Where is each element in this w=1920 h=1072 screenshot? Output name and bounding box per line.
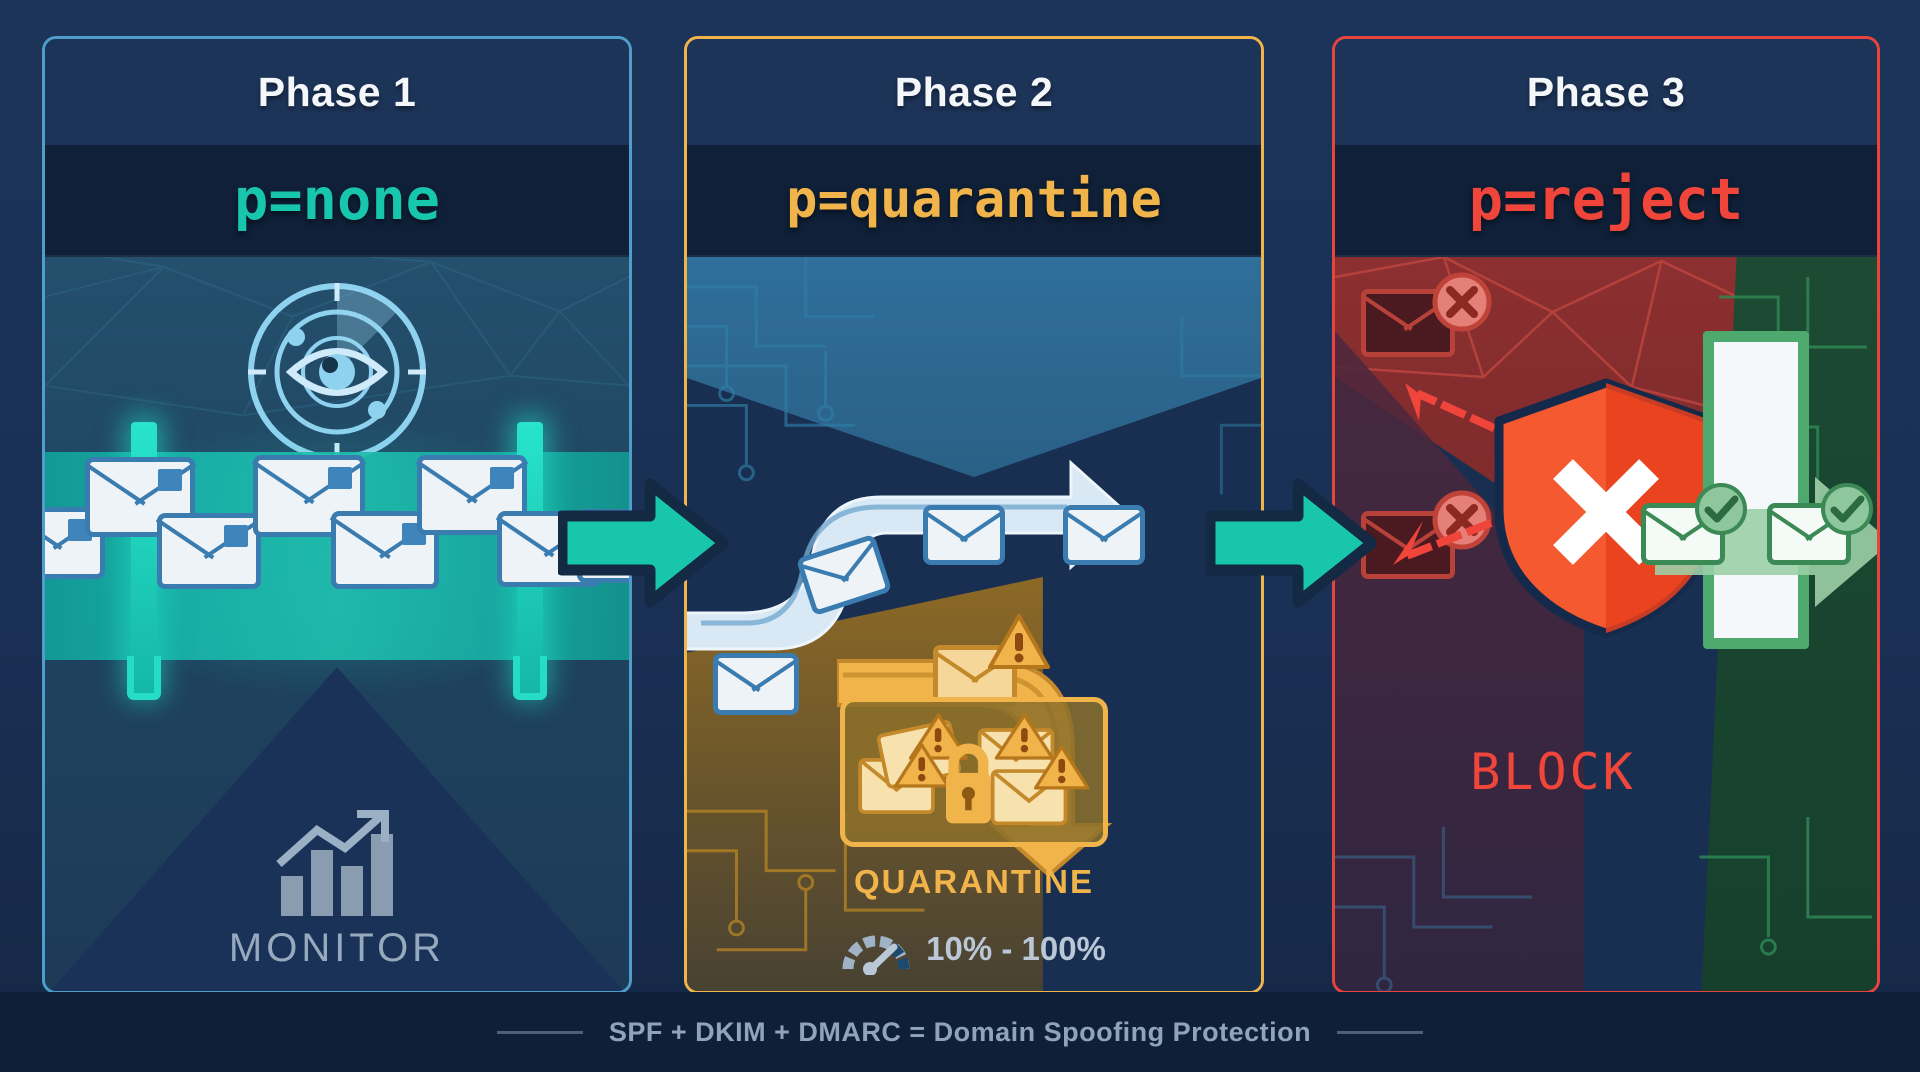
- phase-3-policy-bar: p=reject: [1335, 145, 1877, 257]
- bar-chart-growth-icon: [273, 810, 401, 920]
- circuit-pattern: [1335, 797, 1660, 994]
- phase-3-panel: Phase 3 p=reject: [1332, 36, 1880, 994]
- phase-2-title: Phase 2: [895, 69, 1054, 116]
- footer-rule-right: [1337, 1031, 1423, 1034]
- phase-3-header: Phase 3: [1335, 39, 1877, 145]
- phase-2-policy-value: p=quarantine: [786, 170, 1162, 230]
- phase-2-panel: Phase 2 p=quarantine: [684, 36, 1264, 994]
- phase-1-header: Phase 1: [45, 39, 629, 145]
- gauge-icon: [842, 923, 910, 975]
- monitor-indicator: MONITOR: [45, 810, 629, 971]
- lock-icon: [946, 749, 991, 824]
- phase-1-title: Phase 1: [258, 69, 417, 116]
- quarantine-contents-icon: [845, 702, 1103, 842]
- phase-1-policy-value: p=none: [234, 167, 440, 233]
- dmarc-rollout-diagram: Phase 1 p=none: [0, 0, 1920, 1072]
- phase2-to-phase3-arrow: [1206, 478, 1376, 608]
- footer-bar: SPF + DKIM + DMARC = Domain Spoofing Pro…: [0, 992, 1920, 1072]
- phase-1-body: MONITOR: [45, 257, 629, 994]
- envelope-icon: [713, 653, 799, 715]
- envelope-icon: [923, 505, 1005, 565]
- check-circle-icon: [1693, 481, 1749, 537]
- block-label: BLOCK: [1379, 743, 1727, 801]
- check-circle-icon: [1819, 481, 1875, 537]
- phase1-to-phase2-arrow: [558, 478, 728, 608]
- phase-3-policy-value: p=reject: [1469, 167, 1744, 233]
- quarantine-box: [840, 697, 1108, 847]
- monitor-label: MONITOR: [229, 926, 445, 971]
- phase-3-title: Phase 3: [1527, 69, 1686, 116]
- warning-triangle-icon: [987, 613, 1051, 671]
- quarantine-percentage-row: 10% - 100%: [687, 923, 1261, 975]
- footer-rule-left: [497, 1031, 583, 1034]
- footer-text: SPF + DKIM + DMARC = Domain Spoofing Pro…: [609, 1017, 1311, 1048]
- envelope-icon: [1063, 505, 1145, 565]
- quarantine-percentage-label: 10% - 100%: [926, 930, 1106, 968]
- phase-1-policy-bar: p=none: [45, 145, 629, 257]
- phase-2-header: Phase 2: [687, 39, 1261, 145]
- x-circle-icon: [1431, 271, 1493, 333]
- phase-3-body: BLOCK: [1335, 257, 1877, 994]
- phase-2-body: QUARANTINE 10% - 100%: [687, 257, 1261, 994]
- phase-1-panel: Phase 1 p=none: [42, 36, 632, 994]
- quarantine-label: QUARANTINE: [687, 863, 1261, 901]
- phase-2-policy-bar: p=quarantine: [687, 145, 1261, 257]
